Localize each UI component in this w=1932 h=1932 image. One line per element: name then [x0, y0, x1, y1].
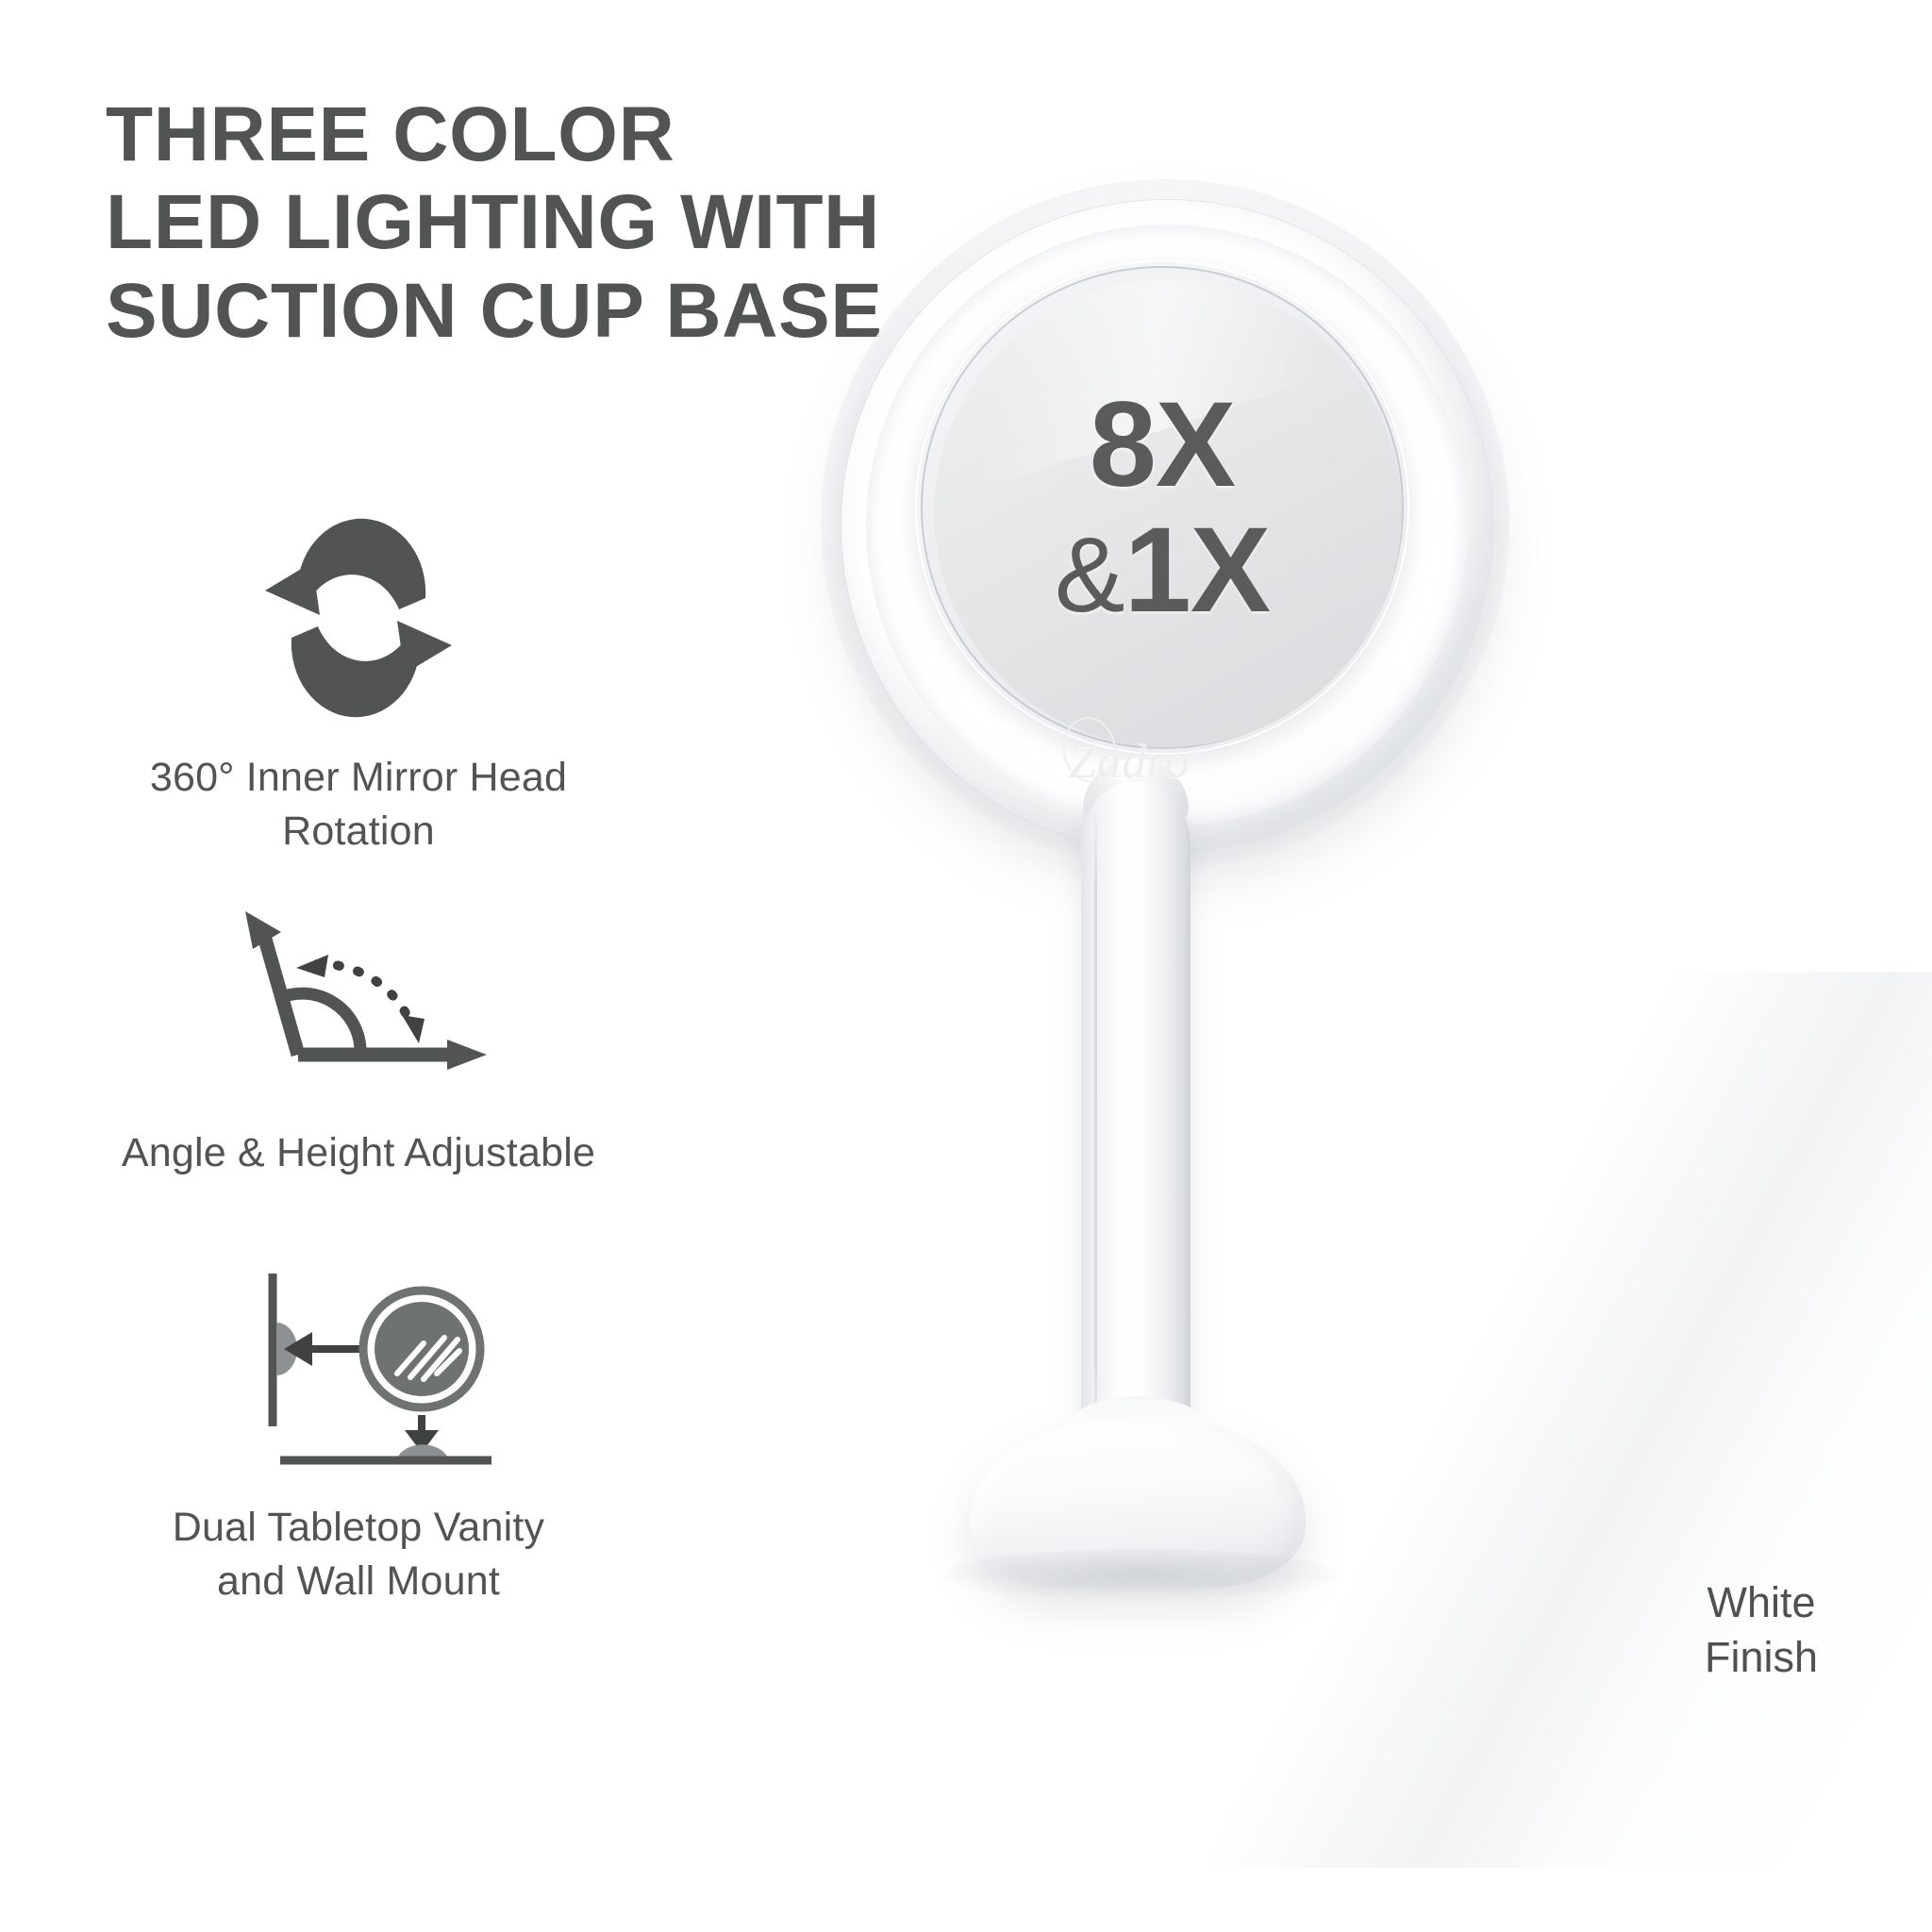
feature-caption-mount-line-2: and Wall Mount	[66, 1555, 651, 1608]
feature-caption-mount: Dual Tabletop Vanity and Wall Mount	[66, 1501, 651, 1608]
feature-caption-mount-line-1: Dual Tabletop Vanity	[66, 1501, 651, 1555]
feature-item-angle: Angle & Height Adjustable	[66, 896, 651, 1264]
ampersand-glyph: &	[1055, 516, 1124, 634]
feature-caption-angle: Angle & Height Adjustable	[66, 1126, 651, 1180]
magnification-secondary-value: 1X	[1124, 503, 1271, 638]
wall-and-tabletop-mount-icon	[222, 1264, 495, 1467]
adjustable-angle-icon	[217, 896, 500, 1085]
feature-list: 360° Inner Mirror Head Rotation	[66, 528, 651, 1623]
finish-callout-line-1: White	[1643, 1575, 1879, 1630]
infographic-canvas: THREE COLOR LED LIGHTING WITH SUCTION CU…	[0, 0, 1932, 1932]
circular-rotation-arrows-icon	[241, 528, 476, 708]
magnification-primary: 8X	[1090, 386, 1236, 504]
inner-mirror-head[interactable]: 8X &1X	[917, 262, 1407, 753]
stem-seam-line	[1094, 802, 1097, 1453]
feature-caption-angle-line-1: Angle & Height Adjustable	[66, 1126, 651, 1180]
adjustable-stem[interactable]	[1081, 781, 1191, 1466]
base-drop-shadow	[943, 1549, 1338, 1600]
feature-caption-rotation-line-1: 360° Inner Mirror Head	[66, 751, 651, 805]
feature-caption-rotation-line-2: Rotation	[66, 805, 651, 858]
feature-item-mount: Dual Tabletop Vanity and Wall Mount	[66, 1264, 651, 1623]
magnification-secondary: &1X	[1055, 511, 1270, 629]
finish-callout: White Finish	[1643, 1575, 1879, 1684]
finish-callout-line-2: Finish	[1643, 1630, 1879, 1685]
product-image: 8X &1X Zadro® White Finish	[811, 142, 1932, 1932]
background-light-streak	[1094, 972, 1932, 1868]
magnification-label: 8X &1X	[917, 262, 1407, 753]
feature-caption-rotation: 360° Inner Mirror Head Rotation	[66, 751, 651, 858]
feature-item-rotation: 360° Inner Mirror Head Rotation	[66, 528, 651, 896]
